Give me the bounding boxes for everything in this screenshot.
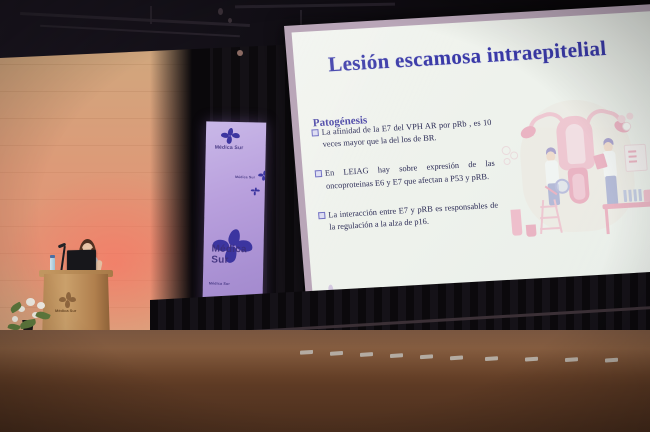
- banner-brand-label: Médica Sur: [211, 244, 263, 267]
- curtain-shadow: [150, 0, 210, 340]
- floor-light: [450, 355, 463, 360]
- uterus-cavity-icon: [565, 123, 586, 164]
- ceiling-spotlight: [228, 18, 232, 23]
- list-item: La interacción entre E7 y pRB es respons…: [318, 199, 500, 234]
- floor-light: [565, 357, 578, 362]
- step-ladder-icon: [538, 199, 567, 236]
- floor-light: [605, 358, 618, 363]
- cervical-canal-icon: [572, 173, 586, 200]
- presentation-slide: Lesión escamosa intraepitelial Patogénes…: [292, 11, 650, 316]
- chart-row: [628, 150, 636, 152]
- bullet-text: En LEIAG hay sobre expresión de las onco…: [325, 159, 495, 190]
- equipment-block-icon: [643, 189, 650, 202]
- flower: [37, 302, 45, 309]
- laptop-screen[interactable]: [67, 250, 96, 273]
- chart-board-icon: [624, 144, 648, 172]
- paint-bucket-icon: [526, 224, 537, 237]
- ladder-step: [540, 216, 559, 219]
- ceiling-truss: [150, 6, 152, 24]
- bubble: [503, 158, 511, 165]
- square-bullet-icon: [318, 212, 326, 219]
- banner-brand-label: Médica Sur: [215, 145, 244, 152]
- slide-title: Lesión escamosa intraepitelial: [327, 33, 649, 77]
- floor-light: [390, 353, 403, 358]
- molecule-bubbles-icon: [499, 143, 523, 174]
- chart-row: [629, 160, 637, 162]
- medica-sur-pinwheel-logo: [252, 187, 259, 194]
- chart-row: [629, 155, 637, 157]
- leaf: [19, 319, 36, 330]
- podium-brand-label: Médica Sur: [55, 308, 76, 313]
- list-item: En LEIAG hay sobre expresión de las onco…: [315, 158, 497, 193]
- floor-light: [300, 350, 313, 355]
- bubble: [626, 112, 634, 119]
- flower: [12, 316, 18, 322]
- banner-brand-label: Médica Sur: [235, 175, 255, 179]
- bubble: [510, 151, 519, 159]
- uterus-medical-illustration: [494, 89, 650, 263]
- test-tube: [638, 189, 642, 201]
- water-bottle-cap: [50, 255, 55, 258]
- bullet-text: La interacción entre E7 y pRB es respons…: [328, 200, 498, 231]
- slide-bullet-list: La afinidad de la E7 del VPH AR por pRb …: [311, 117, 501, 251]
- square-bullet-icon: [315, 170, 323, 177]
- floor-light: [525, 357, 538, 362]
- auditorium-photo: Médica Sur Médica Sur Médica Sur Médica …: [0, 0, 650, 432]
- floor-light: [360, 352, 373, 357]
- floor-light: [420, 354, 433, 359]
- flower: [26, 298, 35, 306]
- test-tube: [633, 189, 637, 201]
- banner-brand-label: Médica Sur: [209, 281, 230, 285]
- square-bullet-icon: [311, 129, 319, 136]
- ceiling-spotlight: [218, 8, 223, 15]
- medica-sur-pinwheel-logo: [222, 128, 238, 144]
- ceiling-spotlight: [237, 50, 243, 56]
- brush-holder-icon: [510, 209, 522, 236]
- bubble: [622, 122, 632, 132]
- leaf: [35, 310, 51, 322]
- ladder-step: [540, 227, 561, 230]
- floor-light: [485, 356, 498, 361]
- floor-light: [330, 351, 343, 356]
